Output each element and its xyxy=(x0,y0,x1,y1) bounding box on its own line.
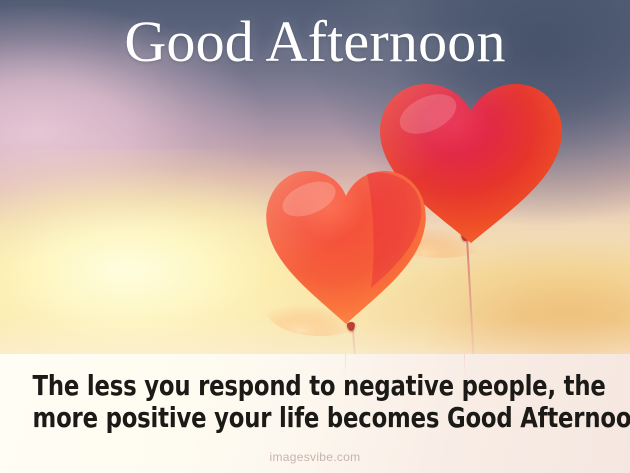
sunset-photo: Good Afternoon xyxy=(0,0,630,354)
quote-line-1: The less you respond to negative people,… xyxy=(33,370,598,402)
watermark: imagesvibe.com xyxy=(0,450,630,464)
caption-band: The less you respond to negative people,… xyxy=(0,354,630,473)
balloon-front xyxy=(263,166,428,326)
page-title: Good Afternoon xyxy=(0,12,630,73)
quote-line-2: more positive your life becomes Good Aft… xyxy=(33,402,598,434)
quote-text: The less you respond to negative people,… xyxy=(25,370,605,434)
greeting-card: Good Afternoon The less you respond to n… xyxy=(0,0,630,473)
balloon-front-bottom-glow xyxy=(265,280,377,336)
